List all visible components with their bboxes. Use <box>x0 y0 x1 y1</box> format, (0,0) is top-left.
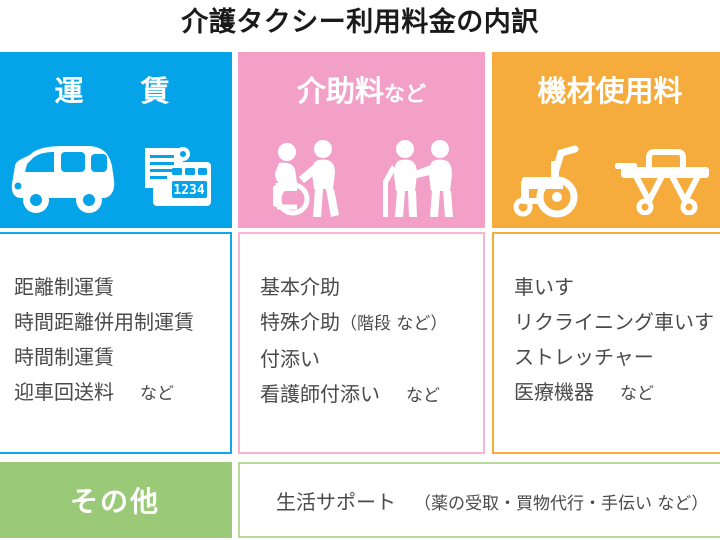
other-label: その他 <box>0 462 232 538</box>
meter-display-value: 1234 <box>173 183 204 198</box>
column-fare-list: 距離制運賃 時間距離併用制運賃 時間制運賃 迎車回送料など <box>0 232 232 454</box>
list-item: 時間制運賃 <box>0 340 230 375</box>
list-item: 付添い <box>240 342 483 377</box>
column-assistance-title: 介助料など <box>238 68 485 110</box>
van-icon <box>9 142 119 216</box>
column-assistance: 介助料など <box>238 52 485 454</box>
list-item: 看護師付添いなど <box>240 377 483 414</box>
list-item: リクライニング車いす <box>494 305 720 340</box>
wheelchair-assist-icon <box>263 139 359 219</box>
list-item: ストレッチャー <box>494 340 720 375</box>
column-equipment-title: 機材使用料 <box>492 68 720 110</box>
column-equipment-list: 車いす リクライニング車いす ストレッチャー 医療機器など <box>492 232 720 454</box>
column-equipment: 機材使用料 <box>492 52 720 454</box>
column-assistance-icons <box>238 136 485 222</box>
column-fare: 運 賃 <box>0 52 232 454</box>
column-fare-header: 運 賃 <box>0 52 232 228</box>
list-item: 特殊介助（階段 など） <box>240 305 483 342</box>
list-item-etc: など <box>594 384 654 404</box>
stretcher-icon <box>615 143 715 215</box>
list-item-etc: など <box>380 386 440 406</box>
list-item: 時間距離併用制運賃 <box>0 305 230 340</box>
other-body-text: 生活サポート（薬の受取・買物代行・手伝い など） <box>240 486 708 515</box>
infographic-root: 介護タクシー利用料金の内訳 運 賃 <box>0 0 720 540</box>
list-item: 医療機器など <box>494 375 720 412</box>
column-fare-icons: 1234 <box>0 136 232 222</box>
other-body-note: （薬の受取・買物代行・手伝い など） <box>396 494 708 514</box>
column-assistance-title-sub: など <box>384 82 426 106</box>
other-label-text: その他 <box>64 480 160 520</box>
column-assistance-list: 基本介助 特殊介助（階段 など） 付添い 看護師付添いなど <box>238 232 485 454</box>
taxi-meter-icon: 1234 <box>137 146 215 212</box>
column-fare-title: 運 賃 <box>0 68 232 110</box>
column-equipment-header: 機材使用料 <box>492 52 720 228</box>
list-item: 迎車回送料など <box>0 375 230 412</box>
page-title: 介護タクシー利用料金の内訳 <box>0 0 720 46</box>
list-item-note: （階段 など） <box>340 314 447 334</box>
list-item: 車いす <box>494 270 720 305</box>
walking-assist-icon <box>377 139 461 219</box>
other-body: 生活サポート（薬の受取・買物代行・手伝い など） <box>238 462 720 538</box>
list-item-etc: など <box>114 384 174 404</box>
list-item: 距離制運賃 <box>0 270 230 305</box>
column-assistance-header: 介助料など <box>238 52 485 228</box>
wheelchair-icon <box>505 139 597 219</box>
list-item: 基本介助 <box>240 270 483 305</box>
column-equipment-icons <box>492 136 720 222</box>
